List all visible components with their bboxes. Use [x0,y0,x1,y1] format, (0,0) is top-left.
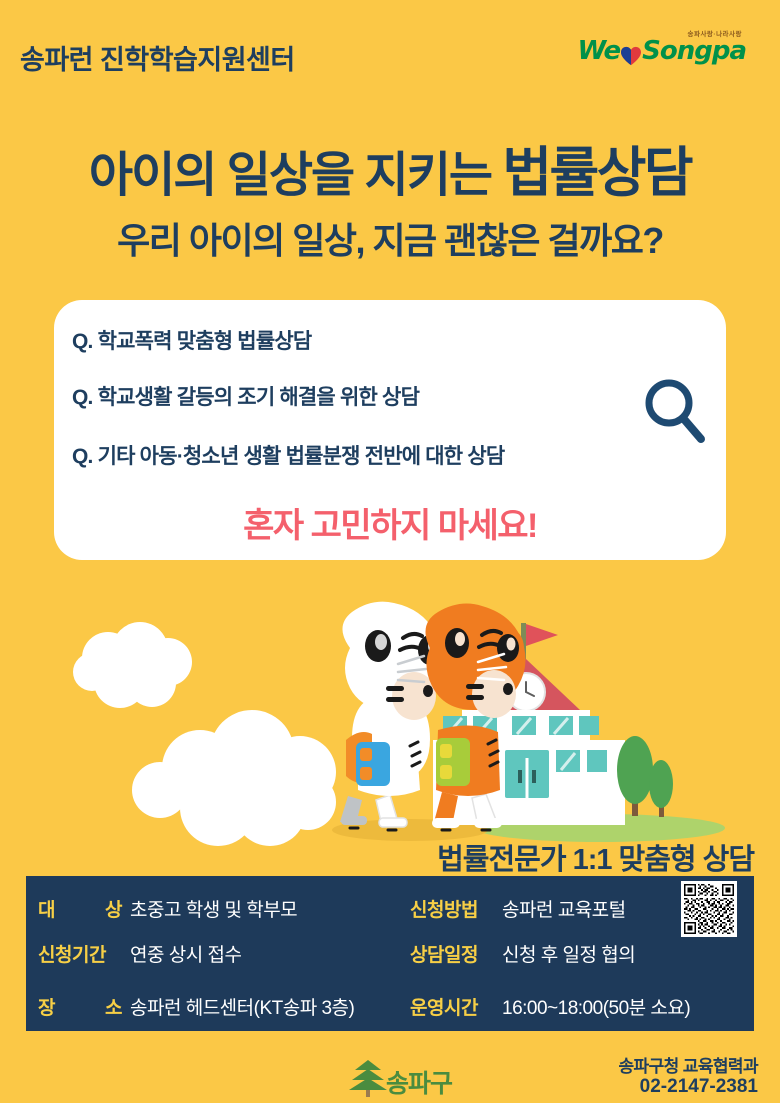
info-value-schedule: 신청 후 일정 협의 [502,940,635,967]
info-label-location-c1: 장 [38,993,55,1020]
info-label-apply-method: 신청방법 [410,895,494,922]
info-label-location-c2: 소 [105,993,122,1020]
center-name-title: 송파런 진학학습지원센터 [20,38,295,77]
we-songpa-logo: 송파사랑·나라사랑 WeSongpa [614,14,762,58]
info-label-apply-period: 신청기간 [38,940,122,967]
qa-item-2: Q. 학교생활 갈등의 조기 해결을 위한 상담 [72,381,419,411]
info-value-location: 송파런 헤드센터(KT송파 3층) [130,993,354,1020]
qa-item-1: Q. 학교폭력 맞춤형 법률상담 [72,325,311,355]
info-value-apply-period: 연중 상시 접수 [130,940,241,967]
panel-title: 법률전문가 1:1 맞춤형 상담 [437,836,754,878]
qa-item-3: Q. 기타 아동·청소년 생활 법률분쟁 전반에 대한 상담 [72,440,504,470]
we-songpa-wordmark: WeSongpa [577,36,746,66]
info-label-hours: 운영시간 [410,993,494,1020]
info-label-target-c2: 상 [105,895,122,922]
info-value-apply-method: 송파런 교육포털 [502,895,626,922]
heart-icon [620,43,642,63]
info-value-hours: 16:00~18:00(50분 소요) [502,993,690,1020]
info-row-schedule: 상담일정신청 후 일정 협의 [410,940,635,976]
info-row-apply-period: 신청기간연중 상시 접수 [38,940,241,976]
info-row-location: 장소송파런 헤드센터(KT송파 3층) [38,993,354,1029]
hero-headline-emphasis: 법률상담 [502,143,691,203]
we-songpa-wordmark-right: Songpa [642,36,746,66]
magnifier-icon [642,378,708,446]
qr-code-icon[interactable] [681,881,737,937]
hero-subheadline: 우리 아이의 일상, 지금 괜찮은 걸까요? [0,212,780,264]
info-label-target-c1: 대 [38,895,55,922]
hero-headline: 아이의 일상을 지키는 법률상담 [0,128,780,207]
info-row-apply-method: 신청방법송파런 교육포털 [410,895,626,931]
poster-canvas: 송파런 진학학습지원센터 송파사랑·나라사랑 WeSongpa 아이의 일상을 … [0,0,780,1103]
hero-headline-plain: 아이의 일상을 지키는 [89,149,502,202]
info-row-target: 대상초중고 학생 및 학부모 [38,895,297,931]
district-logo-text: 송파구 [386,1064,452,1100]
qa-cta-text: 혼자 고민하지 마세요! [0,498,780,547]
illustration-scene [0,590,780,860]
tree-small [649,760,673,817]
we-songpa-wordmark-left: We [577,36,620,66]
info-label-target: 대상 [38,895,122,922]
cloud-large [132,710,336,846]
cloud-small [73,622,192,708]
footer-department: 송파구청 교육협력과 [619,1052,758,1077]
info-label-location: 장소 [38,993,122,1020]
info-label-schedule: 상담일정 [410,940,494,967]
info-value-target: 초중고 학생 및 학부모 [130,895,297,922]
footer-phone: 02-2147-2381 [640,1076,758,1098]
info-row-hours: 운영시간16:00~18:00(50분 소요) [410,993,690,1029]
